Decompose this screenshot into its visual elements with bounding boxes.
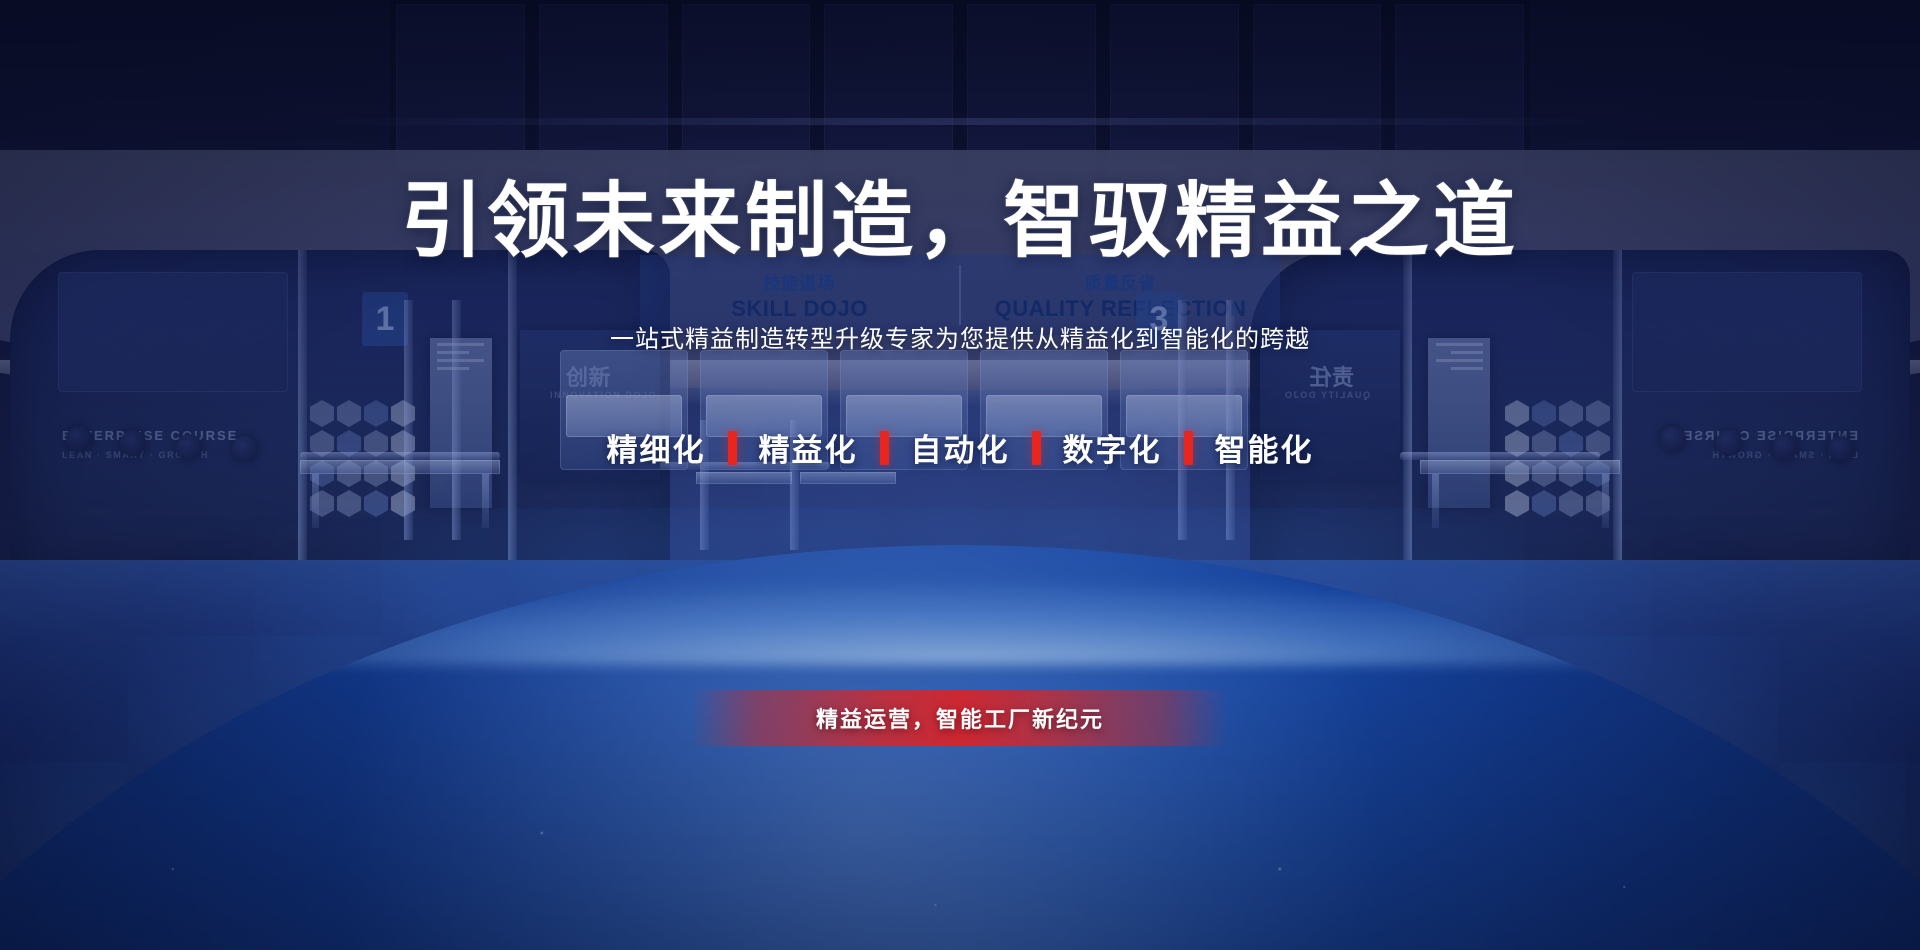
hero-subheadline: 一站式精益制造转型升级专家为您提供从精益化到智能化的跨越 — [0, 319, 1920, 354]
keyword-separator-icon — [1184, 431, 1193, 465]
keyword-jingyihua: 精益化 — [759, 425, 858, 470]
hero-content: 引领未来制造，智驭精益之道 一站式精益制造转型升级专家为您提供从精益化到智能化的… — [0, 0, 1920, 950]
keyword-row: 精细化 精益化 自动化 数字化 智能化 — [0, 425, 1920, 470]
tagline-text: 精益运营，智能工厂新纪元 — [816, 702, 1104, 734]
keyword-separator-icon — [1032, 431, 1041, 465]
keyword-separator-icon — [880, 431, 889, 465]
hero-banner: ENTERPRISE COURSE LEAN · SMART · GROWTH … — [0, 0, 1920, 950]
keyword-shuzihua: 数字化 — [1063, 425, 1162, 470]
keyword-zidonghua: 自动化 — [911, 425, 1010, 470]
keyword-zhinenghua: 智能化 — [1215, 425, 1314, 470]
keyword-jingxihua: 精细化 — [607, 425, 706, 470]
keyword-separator-icon — [728, 431, 737, 465]
tagline-ribbon: 精益运营，智能工厂新纪元 — [692, 690, 1228, 746]
hero-headline: 引领未来制造，智驭精益之道 — [0, 181, 1920, 263]
